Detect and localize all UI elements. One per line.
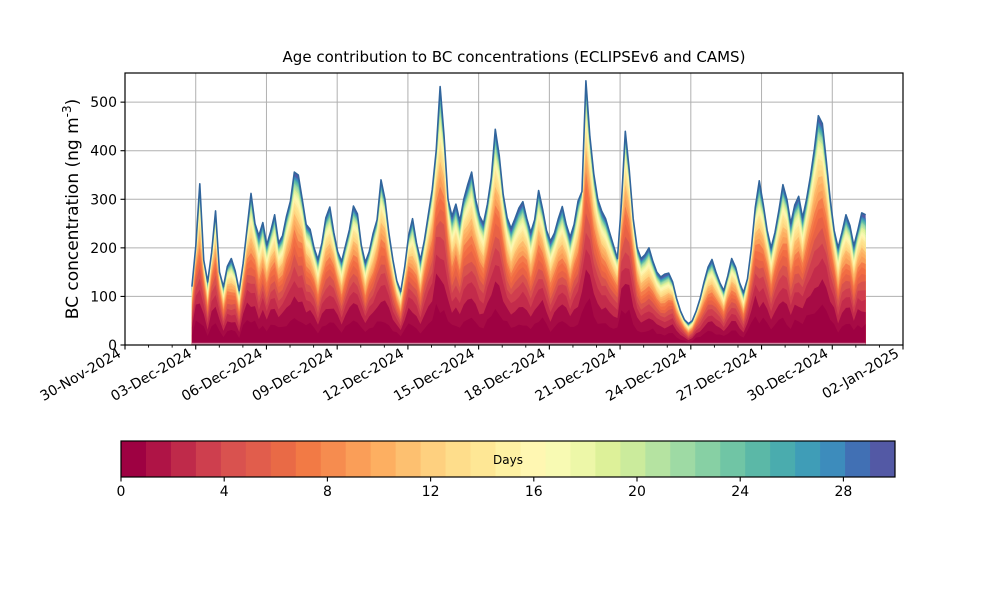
colorbar-tick-label: 8	[323, 484, 332, 500]
y-tick-label: 200	[90, 241, 117, 257]
y-tick-label: 100	[90, 289, 117, 305]
y-tick-label: 300	[90, 192, 117, 208]
colorbar-segment-11[interactable]	[396, 441, 421, 477]
colorbar-segment-21[interactable]	[645, 441, 670, 477]
y-axis-title-superscript: -3	[60, 105, 74, 117]
colorbar-segment-17[interactable]	[545, 441, 570, 477]
colorbar-segment-3[interactable]	[196, 441, 221, 477]
y-axis-title-main: BC concentration (ng m	[63, 117, 83, 319]
colorbar-segment-27[interactable]	[795, 441, 820, 477]
chart-title: Age contribution to BC concentrations (E…	[283, 48, 746, 66]
colorbar-segment-16[interactable]	[520, 441, 545, 477]
y-axis-title-tail: )	[63, 99, 83, 106]
colorbar-segment-10[interactable]	[371, 441, 396, 477]
colorbar-segment-25[interactable]	[745, 441, 770, 477]
colorbar-segment-28[interactable]	[820, 441, 845, 477]
colorbar-segment-26[interactable]	[770, 441, 795, 477]
colorbar-segment-6[interactable]	[271, 441, 296, 477]
figure-canvas: Age contribution to BC concentrations (E…	[0, 0, 1000, 600]
colorbar-segment-23[interactable]	[695, 441, 720, 477]
y-tick-label: 500	[90, 95, 117, 111]
colorbar-segment-13[interactable]	[446, 441, 471, 477]
colorbar-segment-9[interactable]	[346, 441, 371, 477]
colorbar-segment-4[interactable]	[221, 441, 246, 477]
colorbar-segment-12[interactable]	[421, 441, 446, 477]
colorbar-segment-29[interactable]	[845, 441, 870, 477]
colorbar-segment-8[interactable]	[321, 441, 346, 477]
colorbar-segment-7[interactable]	[296, 441, 321, 477]
colorbar-tick-label: 20	[628, 484, 646, 500]
colorbar-tick-label: 12	[422, 484, 440, 500]
colorbar-segment-2[interactable]	[171, 441, 196, 477]
chart-svg: Age contribution to BC concentrations (E…	[0, 0, 1000, 600]
colorbar-tick-label: 16	[525, 484, 543, 500]
svg-text:BC concentration (ng m-3): BC concentration (ng m-3)	[60, 99, 83, 320]
y-axis-title: BC concentration (ng m-3)	[60, 99, 83, 320]
colorbar-segment-24[interactable]	[720, 441, 745, 477]
colorbar-segment-1[interactable]	[146, 441, 171, 477]
colorbar-segment-20[interactable]	[620, 441, 645, 477]
colorbar-segment-22[interactable]	[670, 441, 695, 477]
colorbar-tick-label: 24	[731, 484, 749, 500]
colorbar-tick-label: 4	[220, 484, 229, 500]
colorbar-tick-label: 28	[834, 484, 852, 500]
colorbar-segment-19[interactable]	[595, 441, 620, 477]
colorbar-segment-30[interactable]	[870, 441, 895, 477]
colorbar-segment-5[interactable]	[246, 441, 271, 477]
colorbar-label: Days	[493, 453, 523, 467]
colorbar-segment-0[interactable]	[121, 441, 146, 477]
colorbar-tick-label: 0	[117, 484, 126, 500]
y-tick-label: 400	[90, 144, 117, 160]
colorbar-segment-18[interactable]	[570, 441, 595, 477]
